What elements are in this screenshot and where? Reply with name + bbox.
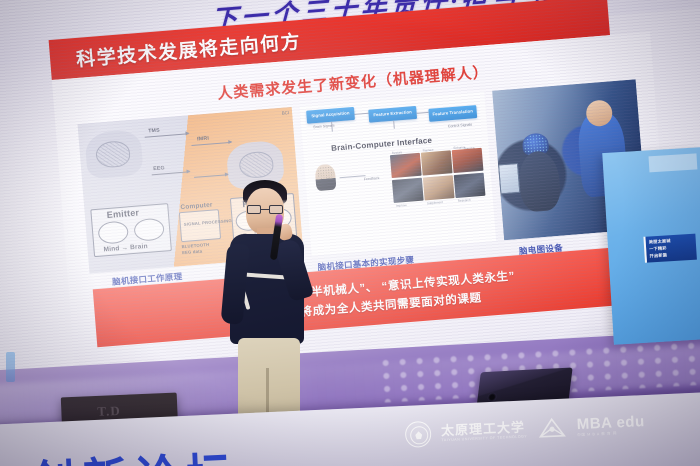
thumbnail [392,177,423,203]
label-eeg: EEG [153,165,165,172]
application-thumbnail-grid [390,148,486,203]
monitor-driver [487,392,497,402]
partner-name-block: MBA edu 中国 M B A 教 育 网 [576,414,645,438]
foreground-banner-text: 创新论坛 [29,435,240,466]
flow-connector [417,112,429,114]
glasses-bridge [261,209,269,210]
monitor-brand-label: T.D [97,403,121,420]
thumb-caption-restore: Restore [392,150,403,155]
glasses-lens-left [247,205,261,214]
thumbnail [452,148,483,174]
flow-connector [340,175,366,178]
bci-corner-tag: BCI [281,110,289,116]
stage-scene: 下一个三十年责任·担当·使命 科学技术发展将走向何方 人类需求发生了新变化（机器… [0,0,700,466]
label-tms: TMS [148,128,160,135]
thumb-caption-supplement: Supplement [427,200,443,205]
thumbnail [421,150,452,176]
flow-caption-feedback: Feedback [364,176,380,181]
glasses-lens-right [269,205,283,214]
side-screen-line-3: 开启新篇 [649,251,693,260]
presenter [216,178,326,444]
logo-row: 太原理工大学 TAIYUAN UNIVERSITY OF TECHNOLOGY … [405,411,646,448]
university-name-block: 太原理工大学 TAIYUAN UNIVERSITY OF TECHNOLOGY [441,420,528,442]
panel-bci-flow: Signal Acquisition Feature Extraction Fe… [300,91,496,255]
university-seal-icon [405,421,432,448]
glasses-icon [247,205,283,214]
thumb-caption-research: Research [458,198,471,203]
thumbnail [390,153,421,179]
side-led-screen: 美丽太原城 一下精彩 开启新篇 [602,147,700,345]
floor-prop [6,352,15,382]
partner-subtitle: 中国 M B A 教 育 网 [577,431,645,438]
flow-title: Brain-Computer Interface [331,136,433,153]
flow-box-feature-translation: Feature Translation [428,105,477,122]
side-screen-highlight [649,153,698,172]
slide-body: 人类需求发生了新变化（机器理解人） BCI TMS fMRI [52,32,673,369]
thumbnail [423,175,454,201]
flow-caption-control-signals: Control Signals [448,122,473,128]
thumbnail [454,172,485,198]
eeg-monitor-icon [498,163,520,195]
mba-logo-icon [536,416,567,441]
label-fmri: fMRI [197,136,209,143]
side-screen-card: 美丽太原城 一下精彩 开启新篇 [643,234,696,263]
partner-name: MBA edu [576,414,645,432]
flow-connector [354,113,368,115]
flow-connector [393,121,394,129]
thumb-caption-improve: Improve [396,203,407,208]
